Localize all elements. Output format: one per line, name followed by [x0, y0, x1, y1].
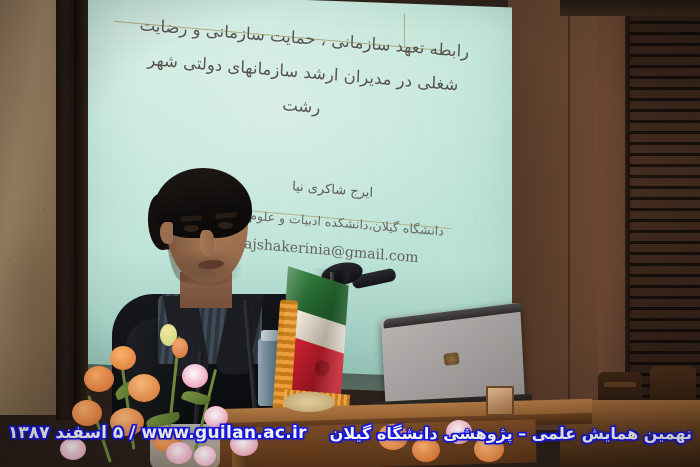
slide-title: رابطه تعهد سازمانی ، حمایت سازمانی و رضا…	[126, 8, 480, 138]
speaker-eye-left	[184, 225, 199, 232]
flower-bloom	[128, 374, 160, 402]
speaker-ear	[160, 222, 173, 244]
caption-right: نهمین همایش علمی – پژوهشی دانشگاه گیلان	[330, 424, 692, 443]
flag-base	[283, 392, 335, 412]
conference-photo: رابطه تعهد سازمانی ، حمایت سازمانی و رضا…	[0, 0, 700, 467]
flower-bloom	[110, 346, 136, 370]
ceiling-shadow	[560, 0, 700, 16]
flower-arrangement	[54, 318, 284, 467]
caption-left-separator: /	[123, 423, 141, 443]
caption-left: www.guilan.ac.ir / ۵ اسفند ۱۳۸۷	[8, 423, 307, 443]
chair-slat	[604, 382, 636, 387]
speaker-eye-right	[218, 222, 233, 229]
flower-blossom-pink	[166, 442, 192, 464]
flower-bloom	[84, 366, 114, 392]
flower-bud	[172, 338, 188, 358]
flower-blossom-pink	[194, 446, 216, 466]
flower-blossom-pink	[182, 364, 208, 388]
wall-right-seam	[568, 0, 570, 430]
wall-left-texture	[0, 0, 58, 415]
acoustic-panel-shade	[630, 0, 700, 420]
speaker-nose	[200, 230, 214, 256]
caption-left-date: ۵ اسفند ۱۳۸۷	[8, 423, 123, 443]
caption-left-url: www.guilan.ac.ir	[141, 423, 306, 443]
laptop-logo-icon	[443, 352, 459, 366]
